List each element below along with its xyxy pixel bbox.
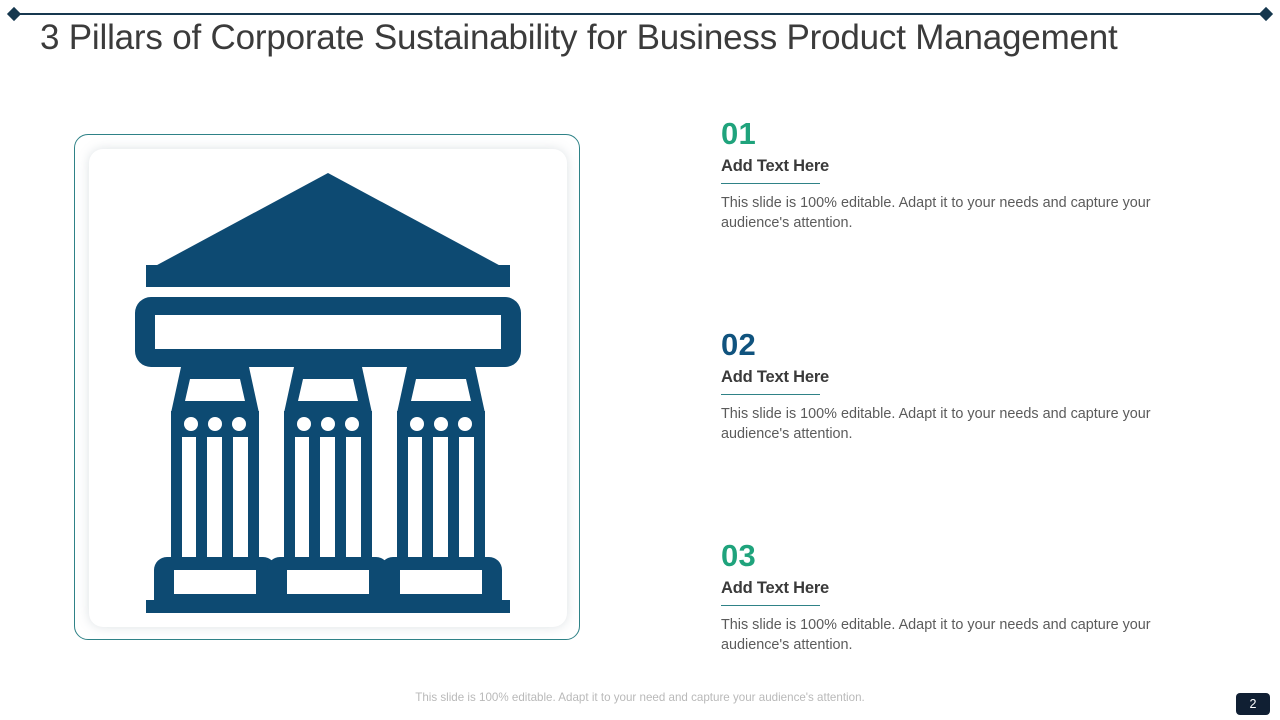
block-body-01: This slide is 100% editable. Adapt it to… <box>721 194 1199 233</box>
illustration-frame <box>74 134 580 640</box>
page-title: 3 Pillars of Corporate Sustainability fo… <box>40 18 1250 58</box>
block-body-03: This slide is 100% editable. Adapt it to… <box>721 616 1199 655</box>
greek-temple-pillars-icon <box>89 149 567 627</box>
block-divider-01 <box>721 183 820 185</box>
block-number-01: 01 <box>721 118 1221 150</box>
slide-canvas: 3 Pillars of Corporate Sustainability fo… <box>0 0 1280 720</box>
block-heading-01: Add Text Here <box>721 157 1221 176</box>
footer-note: This slide is 100% editable. Adapt it to… <box>0 691 1280 704</box>
block-number-03: 03 <box>721 540 1221 572</box>
diamond-marker-right-icon <box>1259 7 1273 21</box>
block-heading-03: Add Text Here <box>721 579 1221 598</box>
content-block-01: 01 Add Text Here This slide is 100% edit… <box>721 118 1221 329</box>
content-block-02: 02 Add Text Here This slide is 100% edit… <box>721 329 1221 540</box>
illustration-card <box>89 149 567 627</box>
block-divider-02 <box>721 394 820 396</box>
page-number-badge: 2 <box>1236 693 1270 715</box>
horizontal-rule <box>14 13 1266 15</box>
content-blocks: 01 Add Text Here This slide is 100% edit… <box>721 118 1221 655</box>
block-body-02: This slide is 100% editable. Adapt it to… <box>721 405 1199 444</box>
content-block-03: 03 Add Text Here This slide is 100% edit… <box>721 540 1221 655</box>
block-divider-03 <box>721 605 820 607</box>
block-heading-02: Add Text Here <box>721 368 1221 387</box>
block-number-02: 02 <box>721 329 1221 361</box>
